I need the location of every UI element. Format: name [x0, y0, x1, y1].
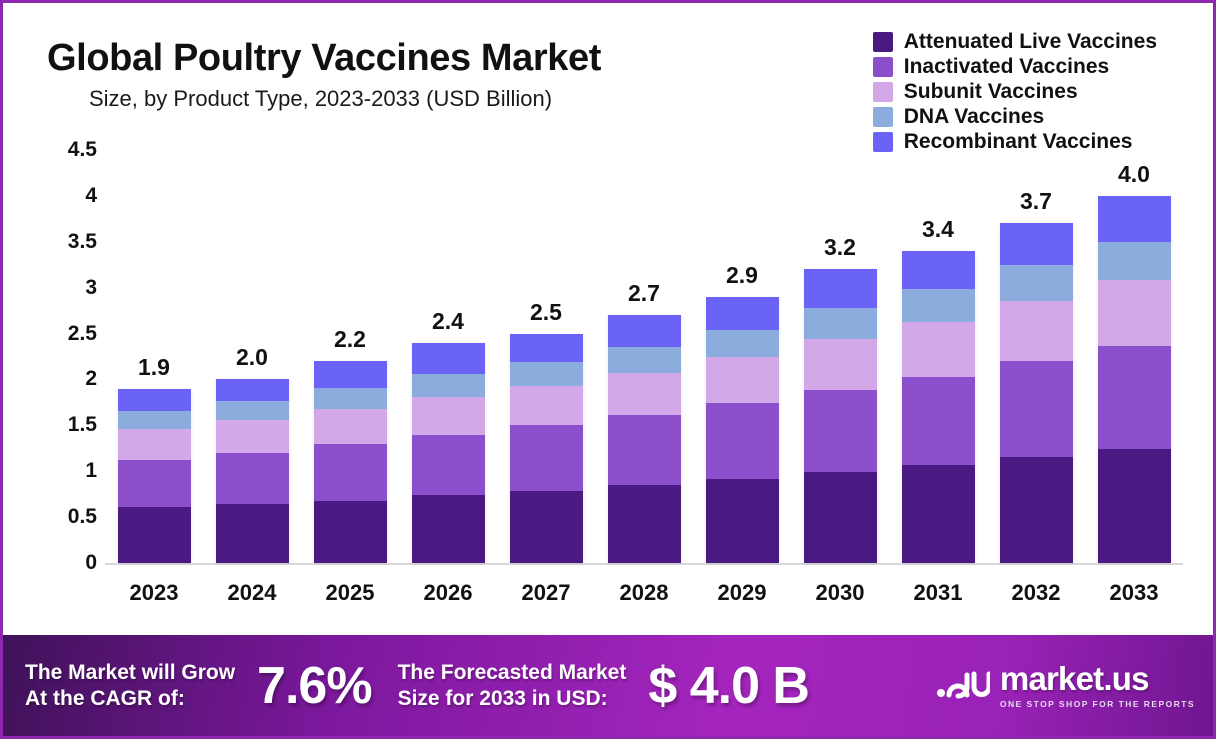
x-axis-tick-label: 2032 [987, 580, 1085, 606]
bar-segment[interactable] [412, 495, 485, 563]
bar-column[interactable]: 4.0 [1085, 136, 1183, 563]
title-block: Global Poultry Vaccines Market Size, by … [47, 37, 601, 112]
bar-segment[interactable] [1098, 346, 1171, 450]
legend-swatch-icon [873, 82, 893, 102]
y-axis-tick-label: 4.5 [39, 138, 97, 162]
bar-segment[interactable] [412, 397, 485, 435]
bar-segment[interactable] [118, 507, 191, 563]
bar-segment[interactable] [1000, 361, 1073, 457]
legend-item[interactable]: Attenuated Live Vaccines [873, 29, 1157, 54]
market-us-logo-icon [936, 666, 990, 705]
stacked-bar[interactable] [706, 297, 779, 563]
bar-total-label: 2.5 [497, 299, 595, 326]
bar-total-label: 2.2 [301, 326, 399, 353]
x-axis-tick-label: 2029 [693, 580, 791, 606]
legend-item-label: Subunit Vaccines [904, 80, 1078, 104]
y-axis-tick-label: 1.5 [39, 413, 97, 437]
bar-segment[interactable] [314, 388, 387, 409]
bar-segment[interactable] [118, 460, 191, 507]
bar-column[interactable]: 2.4 [399, 136, 497, 563]
y-axis-tick-label: 2.5 [39, 322, 97, 346]
bar-segment[interactable] [804, 390, 877, 472]
bar-segment[interactable] [216, 379, 289, 400]
legend-item[interactable]: Inactivated Vaccines [873, 54, 1157, 79]
legend-item[interactable]: DNA Vaccines [873, 104, 1157, 129]
bars-container: 1.92.02.22.42.52.72.93.23.43.74.0 [105, 136, 1183, 563]
plot-area: 4.543.532.521.510.50 1.92.02.22.42.52.72… [39, 136, 1183, 568]
bar-segment[interactable] [314, 501, 387, 563]
bar-segment[interactable] [1000, 223, 1073, 264]
bar-segment[interactable] [118, 389, 191, 411]
bar-total-label: 2.7 [595, 280, 693, 307]
bar-segment[interactable] [902, 377, 975, 465]
x-axis-tick-label: 2030 [791, 580, 889, 606]
bar-segment[interactable] [314, 409, 387, 444]
x-axis-labels: 2023202420252026202720282029203020312032… [105, 576, 1183, 610]
forecast-label: The Forecasted Market Size for 2033 in U… [398, 660, 627, 711]
bar-total-label: 3.2 [791, 234, 889, 261]
bar-segment[interactable] [510, 386, 583, 425]
bar-segment[interactable] [1098, 196, 1171, 242]
bar-segment[interactable] [1000, 301, 1073, 362]
forecast-value: $ 4.0 B [648, 656, 809, 716]
bar-segment[interactable] [1000, 265, 1073, 301]
stacked-bar[interactable] [314, 361, 387, 563]
bar-segment[interactable] [804, 339, 877, 390]
bar-segment[interactable] [608, 347, 681, 373]
y-axis-tick-label: 0 [39, 551, 97, 575]
bar-segment[interactable] [608, 315, 681, 347]
bar-column[interactable]: 2.0 [203, 136, 301, 563]
bar-segment[interactable] [216, 504, 289, 563]
bar-segment[interactable] [1000, 457, 1073, 563]
legend-item-label: Inactivated Vaccines [904, 55, 1109, 79]
bar-segment[interactable] [902, 289, 975, 322]
stacked-bar[interactable] [412, 343, 485, 563]
bar-segment[interactable] [314, 444, 387, 501]
bar-segment[interactable] [804, 269, 877, 308]
bar-segment[interactable] [412, 343, 485, 374]
bar-segment[interactable] [510, 425, 583, 490]
bar-segment[interactable] [902, 322, 975, 377]
bar-segment[interactable] [510, 362, 583, 386]
x-axis-tick-label: 2023 [105, 580, 203, 606]
x-axis-tick-label: 2033 [1085, 580, 1183, 606]
bar-segment[interactable] [804, 472, 877, 563]
bar-column[interactable]: 2.7 [595, 136, 693, 563]
stacked-bar[interactable] [118, 389, 191, 563]
page-subtitle: Size, by Product Type, 2023-2033 (USD Bi… [89, 86, 601, 112]
stacked-bar[interactable] [510, 334, 583, 563]
x-axis-tick-label: 2028 [595, 580, 693, 606]
y-axis-tick-label: 1 [39, 459, 97, 483]
brand-tagline: ONE STOP SHOP FOR THE REPORTS [1000, 699, 1195, 709]
x-axis-tick-label: 2024 [203, 580, 301, 606]
stacked-bar[interactable] [804, 269, 877, 563]
y-axis-tick-label: 4 [39, 184, 97, 208]
bar-segment[interactable] [706, 330, 779, 358]
bar-segment[interactable] [510, 491, 583, 564]
bar-segment[interactable] [608, 485, 681, 563]
bar-segment[interactable] [118, 411, 191, 429]
bar-column[interactable]: 2.9 [693, 136, 791, 563]
bar-total-label: 2.4 [399, 308, 497, 335]
cagr-label-line1: The Market will Grow [25, 660, 235, 686]
brand-text: market.us ONE STOP SHOP FOR THE REPORTS [1000, 662, 1195, 709]
legend-item-label: Attenuated Live Vaccines [904, 30, 1157, 54]
bar-segment[interactable] [608, 415, 681, 485]
x-axis-tick-label: 2031 [889, 580, 987, 606]
bar-total-label: 1.9 [105, 354, 203, 381]
stacked-bar[interactable] [216, 379, 289, 563]
brand-name: market.us [1000, 662, 1195, 695]
bar-segment[interactable] [902, 251, 975, 289]
y-axis-tick-label: 3.5 [39, 230, 97, 254]
brand-logo: market.us ONE STOP SHOP FOR THE REPORTS [936, 662, 1195, 709]
page-title: Global Poultry Vaccines Market [47, 37, 601, 80]
legend-swatch-icon [873, 57, 893, 77]
legend-item-label: DNA Vaccines [904, 105, 1044, 129]
x-axis-line [105, 563, 1183, 565]
bar-column[interactable]: 2.2 [301, 136, 399, 563]
stacked-bar[interactable] [608, 315, 681, 563]
bar-segment[interactable] [706, 479, 779, 563]
stacked-bar[interactable] [1000, 223, 1073, 563]
bar-segment[interactable] [216, 401, 289, 420]
bar-column[interactable]: 2.5 [497, 136, 595, 563]
legend-item[interactable]: Subunit Vaccines [873, 79, 1157, 104]
forecast-label-line2: Size for 2033 in USD: [398, 686, 627, 712]
bar-total-label: 3.4 [889, 216, 987, 243]
bar-segment[interactable] [902, 465, 975, 563]
bar-segment[interactable] [706, 357, 779, 403]
bar-column[interactable]: 3.7 [987, 136, 1085, 563]
y-axis: 4.543.532.521.510.50 [39, 136, 97, 568]
stacked-bar[interactable] [1098, 196, 1171, 563]
y-axis-tick-label: 2 [39, 367, 97, 391]
bar-segment[interactable] [216, 420, 289, 453]
bar-segment[interactable] [510, 334, 583, 362]
bar-segment[interactable] [412, 374, 485, 397]
x-axis-tick-label: 2026 [399, 580, 497, 606]
bar-total-label: 4.0 [1085, 161, 1183, 188]
stacked-bar[interactable] [902, 251, 975, 563]
chart-infographic: Global Poultry Vaccines Market Size, by … [0, 0, 1216, 739]
footer-banner: The Market will Grow At the CAGR of: 7.6… [3, 635, 1213, 736]
bar-segment[interactable] [216, 453, 289, 504]
bar-total-label: 2.9 [693, 262, 791, 289]
y-axis-tick-label: 3 [39, 276, 97, 300]
bar-segment[interactable] [412, 435, 485, 496]
bar-segment[interactable] [608, 373, 681, 415]
cagr-label: The Market will Grow At the CAGR of: [25, 660, 235, 711]
x-axis-tick-label: 2025 [301, 580, 399, 606]
bar-segment[interactable] [706, 297, 779, 330]
legend-swatch-icon [873, 107, 893, 127]
bar-segment[interactable] [314, 361, 387, 388]
cagr-value: 7.6% [257, 656, 372, 716]
bar-segment[interactable] [1098, 280, 1171, 345]
bar-column[interactable]: 1.9 [105, 136, 203, 563]
bar-segment[interactable] [804, 308, 877, 339]
bar-column[interactable]: 3.4 [889, 136, 987, 563]
bar-column[interactable]: 3.2 [791, 136, 889, 563]
cagr-label-line2: At the CAGR of: [25, 686, 235, 712]
bar-segment[interactable] [118, 429, 191, 460]
bar-segment[interactable] [1098, 449, 1171, 563]
x-axis-tick-label: 2027 [497, 580, 595, 606]
bar-segment[interactable] [706, 403, 779, 478]
bar-segment[interactable] [1098, 242, 1171, 281]
bar-total-label: 3.7 [987, 188, 1085, 215]
legend-swatch-icon [873, 32, 893, 52]
y-axis-tick-label: 0.5 [39, 505, 97, 529]
bar-total-label: 2.0 [203, 344, 301, 371]
forecast-label-line1: The Forecasted Market [398, 660, 627, 686]
